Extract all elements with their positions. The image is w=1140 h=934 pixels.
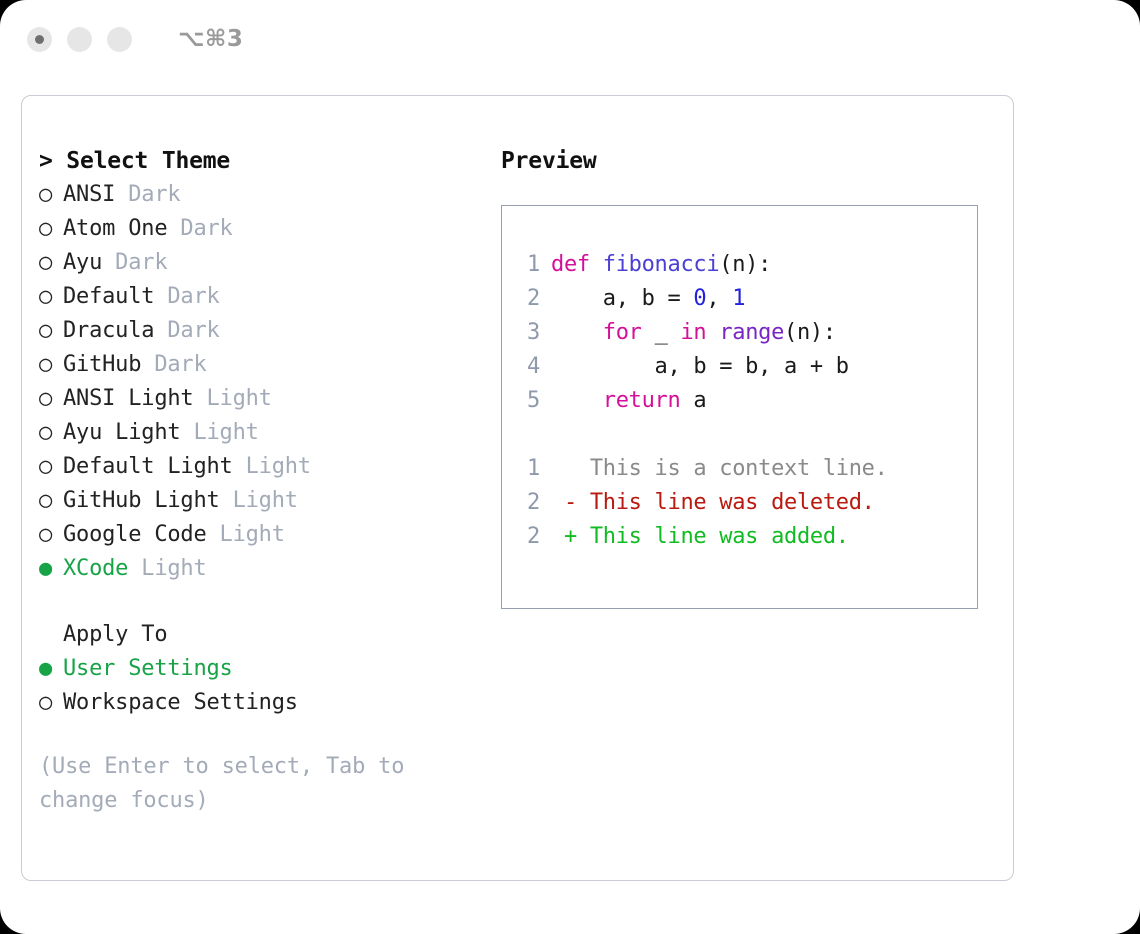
radio-unselected-icon: ○: [39, 314, 63, 348]
theme-item-kind-badge: Light: [180, 420, 258, 445]
theme-item-ayu-light[interactable]: ○Ayu Light Light: [39, 416, 499, 450]
apply-to-option-label: Workspace Settings: [63, 690, 298, 715]
theme-item-label: GitHub Light: [63, 488, 220, 513]
code-diff-separator: [514, 418, 969, 452]
apply-to-option-workspace-settings[interactable]: ○Workspace Settings: [39, 686, 499, 720]
code-token-plain: a: [680, 388, 706, 413]
code-token-fn2: range: [719, 320, 784, 345]
theme-item-label: Ayu: [63, 250, 102, 275]
theme-item-kind-badge: Light: [128, 556, 206, 581]
code-token-plain: [706, 320, 719, 345]
radio-unselected-icon: ○: [39, 178, 63, 212]
apply-to-label: Apply To: [39, 618, 499, 652]
theme-item-kind-badge: Dark: [167, 216, 232, 241]
diff_lines-line: 1 This is a context line.: [514, 452, 969, 486]
theme-item-label: ANSI Light: [63, 386, 193, 411]
apply-to-list: ●User Settings○Workspace Settings: [39, 652, 499, 720]
theme-item-dracula[interactable]: ○Dracula Dark: [39, 314, 499, 348]
theme-item-google-code[interactable]: ○Google Code Light: [39, 518, 499, 552]
main-panel: > Select Theme ○ANSI Dark○Atom One Dark○…: [21, 95, 1014, 881]
diff_lines-line: 2 - This line was deleted.: [514, 486, 969, 520]
radio-unselected-icon: ○: [39, 416, 63, 450]
radio-selected-icon: ●: [39, 652, 63, 686]
select-theme-heading: > Select Theme: [39, 144, 499, 178]
radio-unselected-icon: ○: [39, 518, 63, 552]
radio-selected-icon: ●: [39, 552, 63, 586]
code-preview-area: 1def fibonacci(n):2 a, b = 0, 13 for _ i…: [514, 248, 969, 554]
theme-item-xcode[interactable]: ●XCode Light: [39, 552, 499, 586]
theme-item-label: Google Code: [63, 522, 207, 547]
window-dot-two[interactable]: [67, 27, 92, 52]
theme-item-label: Atom One: [63, 216, 167, 241]
theme-item-default-light[interactable]: ○Default Light Light: [39, 450, 499, 484]
preview-heading: Preview: [501, 144, 1001, 178]
theme-item-kind-badge: Dark: [115, 182, 180, 207]
theme-item-ayu[interactable]: ○Ayu Dark: [39, 246, 499, 280]
theme-item-kind-badge: Dark: [141, 352, 206, 377]
code-token-plain: ,: [706, 286, 732, 311]
theme-item-kind-badge: Light: [207, 522, 285, 547]
window-dot-active[interactable]: [27, 27, 52, 52]
theme-list: ○ANSI Dark○Atom One Dark○Ayu Dark○Defaul…: [39, 178, 499, 586]
radio-unselected-icon: ○: [39, 246, 63, 280]
code-token-plain: [551, 388, 603, 413]
theme-item-kind-badge: Light: [220, 488, 298, 513]
radio-unselected-icon: ○: [39, 484, 63, 518]
code-token-kw: in: [680, 320, 706, 345]
theme-item-ansi[interactable]: ○ANSI Dark: [39, 178, 499, 212]
code-token-kw: return: [603, 388, 681, 413]
theme-item-atom-one[interactable]: ○Atom One Dark: [39, 212, 499, 246]
code-token-plain: (n):: [719, 252, 771, 277]
theme-item-label: Ayu Light: [63, 420, 180, 445]
radio-unselected-icon: ○: [39, 280, 63, 314]
code_lines-line: 2 a, b = 0, 1: [514, 282, 969, 316]
theme-item-kind-badge: Dark: [154, 318, 219, 343]
keyboard-shortcut-label: ⌥⌘3: [178, 26, 243, 52]
titlebar: ⌥⌘3: [0, 0, 1140, 78]
window-controls: [27, 27, 132, 52]
line-number: 1: [514, 248, 540, 282]
line-number: 2: [514, 520, 540, 554]
diff_lines-line: 2 + This line was added.: [514, 520, 969, 554]
line-number: 3: [514, 316, 540, 350]
code-token-plain: a, b = b, a + b: [551, 354, 849, 379]
theme-selection-column: > Select Theme ○ANSI Dark○Atom One Dark○…: [39, 144, 499, 818]
code-token-del: - This line was deleted.: [551, 490, 875, 515]
section-spacer: [39, 586, 499, 618]
code-token-kw: for: [603, 320, 642, 345]
code-token-plain: _: [642, 320, 681, 345]
apply-to-option-label: User Settings: [63, 656, 233, 681]
theme-item-kind-badge: Dark: [154, 284, 219, 309]
radio-unselected-icon: ○: [39, 348, 63, 382]
code-token-num: 0: [693, 286, 706, 311]
theme-item-kind-badge: Dark: [102, 250, 167, 275]
theme-item-kind-badge: Light: [193, 386, 271, 411]
theme-item-ansi-light[interactable]: ○ANSI Light Light: [39, 382, 499, 416]
theme-item-label: ANSI: [63, 182, 115, 207]
keyboard-hint-text: (Use Enter to select, Tab to change focu…: [39, 750, 449, 818]
apply-to-option-user-settings[interactable]: ●User Settings: [39, 652, 499, 686]
line-number: 2: [514, 486, 540, 520]
radio-unselected-icon: ○: [39, 382, 63, 416]
code-token-fn: fibonacci: [603, 252, 720, 277]
line-number: 1: [514, 452, 540, 486]
code_lines-line: 4 a, b = b, a + b: [514, 350, 969, 384]
code_lines-line: 3 for _ in range(n):: [514, 316, 969, 350]
radio-unselected-icon: ○: [39, 212, 63, 246]
preview-column: Preview 1def fibonacci(n):2 a, b = 0, 13…: [501, 144, 1001, 609]
theme-item-label: Default: [63, 284, 154, 309]
code-token-kw: def: [551, 252, 603, 277]
app-window: ⌥⌘3 > Select Theme ○ANSI Dark○Atom One D…: [0, 0, 1140, 934]
theme-item-label: Default Light: [63, 454, 233, 479]
preview-box: 1def fibonacci(n):2 a, b = 0, 13 for _ i…: [501, 205, 978, 609]
active-dot-indicator: [35, 35, 44, 44]
code-token-num: 1: [732, 286, 745, 311]
theme-item-kind-badge: Light: [233, 454, 311, 479]
radio-unselected-icon: ○: [39, 450, 63, 484]
code-token-plain: [551, 320, 603, 345]
theme-item-label: Dracula: [63, 318, 154, 343]
theme-item-label: XCode: [63, 556, 128, 581]
theme-item-default[interactable]: ○Default Dark: [39, 280, 499, 314]
code_lines-line: 1def fibonacci(n):: [514, 248, 969, 282]
theme-item-github[interactable]: ○GitHub Dark: [39, 348, 499, 382]
line-number: 2: [514, 282, 540, 316]
code-token-add: + This line was added.: [551, 524, 849, 549]
line-number: 4: [514, 350, 540, 384]
code-token-ctx: This is a context line.: [551, 456, 888, 481]
radio-unselected-icon: ○: [39, 686, 63, 720]
window-dot-three[interactable]: [107, 27, 132, 52]
line-number: 5: [514, 384, 540, 418]
code_lines-line: 5 return a: [514, 384, 969, 418]
code-token-plain: (n):: [784, 320, 836, 345]
code-token-plain: a, b =: [551, 286, 693, 311]
theme-item-github-light[interactable]: ○GitHub Light Light: [39, 484, 499, 518]
theme-item-label: GitHub: [63, 352, 141, 377]
